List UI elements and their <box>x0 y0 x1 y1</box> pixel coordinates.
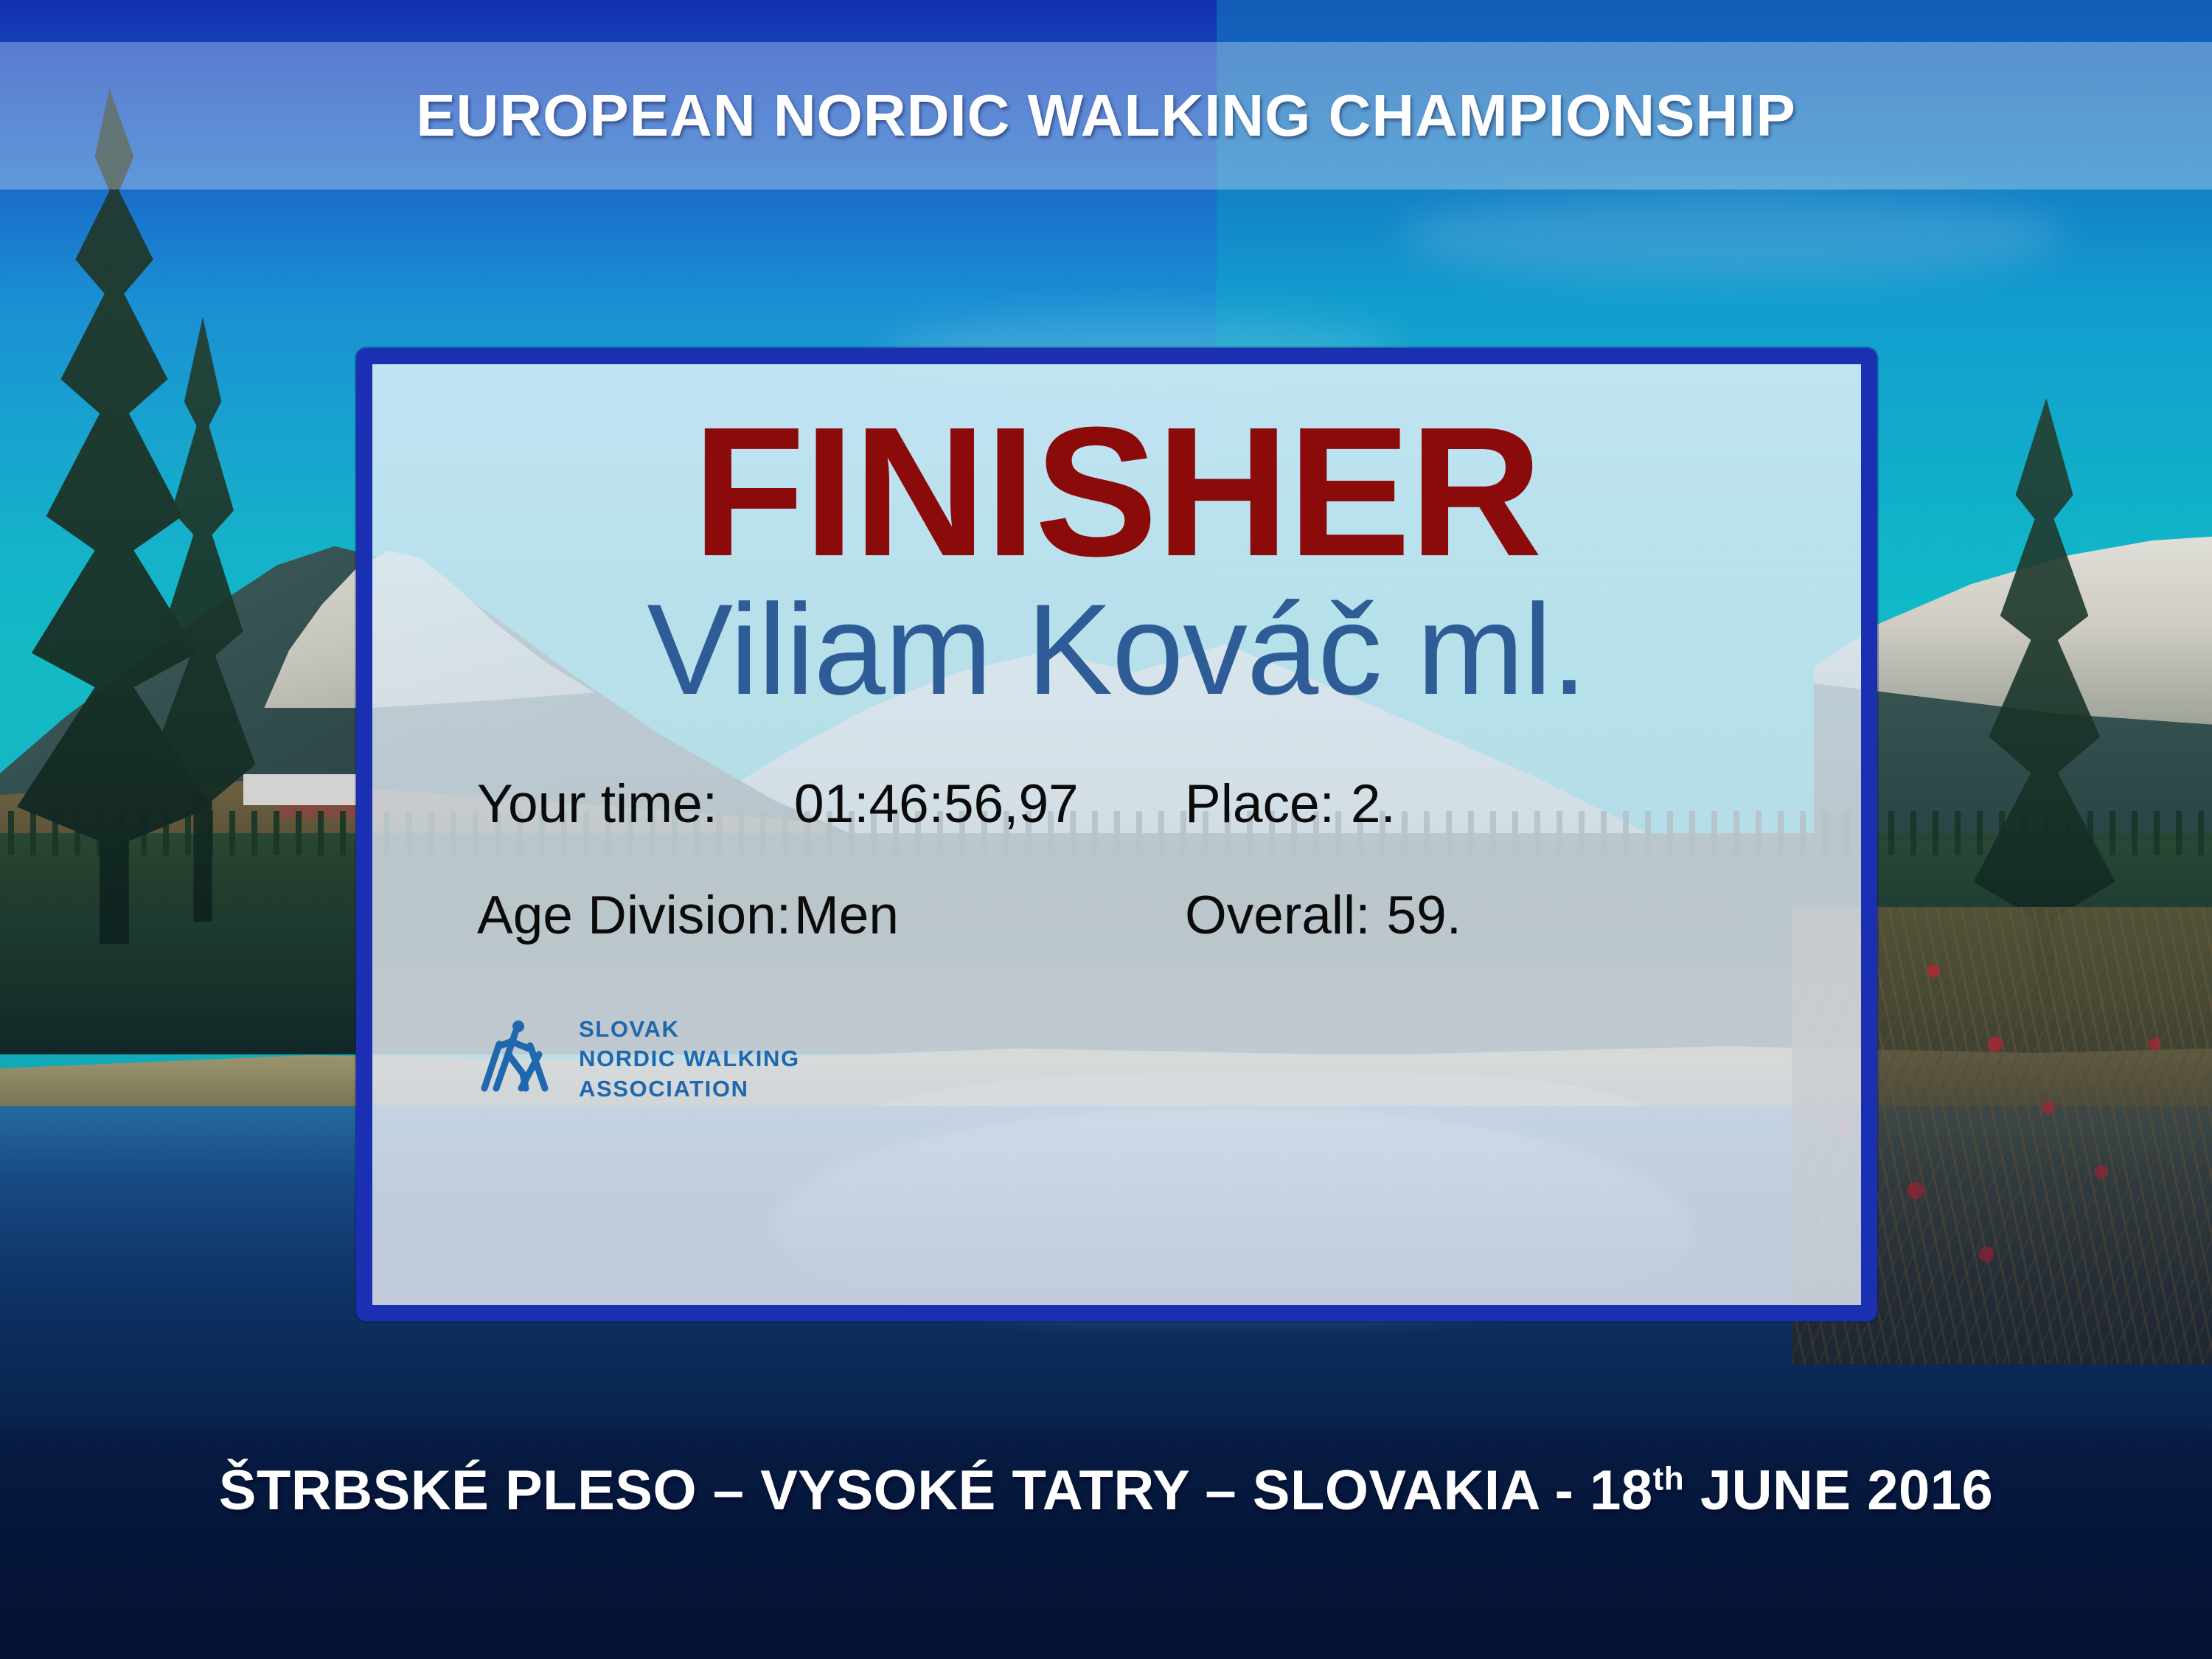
logo-line-2: NORDIC WALKING <box>579 1044 800 1074</box>
walker-head <box>512 1020 524 1032</box>
nordic-walker-icon <box>477 1020 560 1097</box>
result-row-time: Your time: 01:46:56,97 Place: 2. <box>477 777 1780 831</box>
overall-value: 59. <box>1387 888 1461 942</box>
certificate-page: EUROPEAN NORDIC WALKING CHAMPIONSHIP FIN… <box>0 0 2212 1659</box>
your-time-value: 01:46:56,97 <box>794 777 1185 831</box>
association-name: SLOVAK NORDIC WALKING ASSOCIATION <box>579 1015 800 1104</box>
result-row-division: Age Division: Men Overall: 59. <box>477 888 1780 942</box>
finisher-headline: FINISHER <box>372 400 1861 584</box>
header-banner: EUROPEAN NORDIC WALKING CHAMPIONSHIP <box>0 42 2212 189</box>
venue-text: ŠTRBSKÉ PLESO – VYSOKÉ TATRY – SLOVAKIA … <box>219 1459 1653 1522</box>
venue-date-line: ŠTRBSKÉ PLESO – VYSOKÉ TATRY – SLOVAKIA … <box>219 1458 1994 1523</box>
overall-label: Overall: <box>1185 888 1371 942</box>
logo-line-1: SLOVAK <box>579 1015 800 1044</box>
age-division-value: Men <box>794 888 1185 942</box>
age-division-label: Age Division: <box>477 888 794 942</box>
your-time-label: Your time: <box>477 777 794 831</box>
certificate-card-inner: FINISHER Viliam Kováč ml. Your time: 01:… <box>372 364 1861 1305</box>
place-label: Place: <box>1185 777 1335 831</box>
date-ordinal-suffix: th <box>1653 1461 1685 1498</box>
place-value: 2. <box>1351 777 1396 831</box>
certificate-card: FINISHER Viliam Kováč ml. Your time: 01:… <box>356 348 1877 1321</box>
date-text: JUNE 2016 <box>1684 1459 1993 1522</box>
lakeside-building <box>243 774 361 805</box>
cloud-wisp <box>1401 192 2065 280</box>
athlete-name: Viliam Kováč ml. <box>372 585 1861 714</box>
footer-banner: ŠTRBSKÉ PLESO – VYSOKÉ TATRY – SLOVAKIA … <box>0 1416 2212 1659</box>
event-title: EUROPEAN NORDIC WALKING CHAMPIONSHIP <box>416 82 1796 150</box>
result-details: Your time: 01:46:56,97 Place: 2. Age Div… <box>477 777 1780 1000</box>
association-logo: SLOVAK NORDIC WALKING ASSOCIATION <box>477 1015 800 1104</box>
logo-line-3: ASSOCIATION <box>579 1074 800 1104</box>
